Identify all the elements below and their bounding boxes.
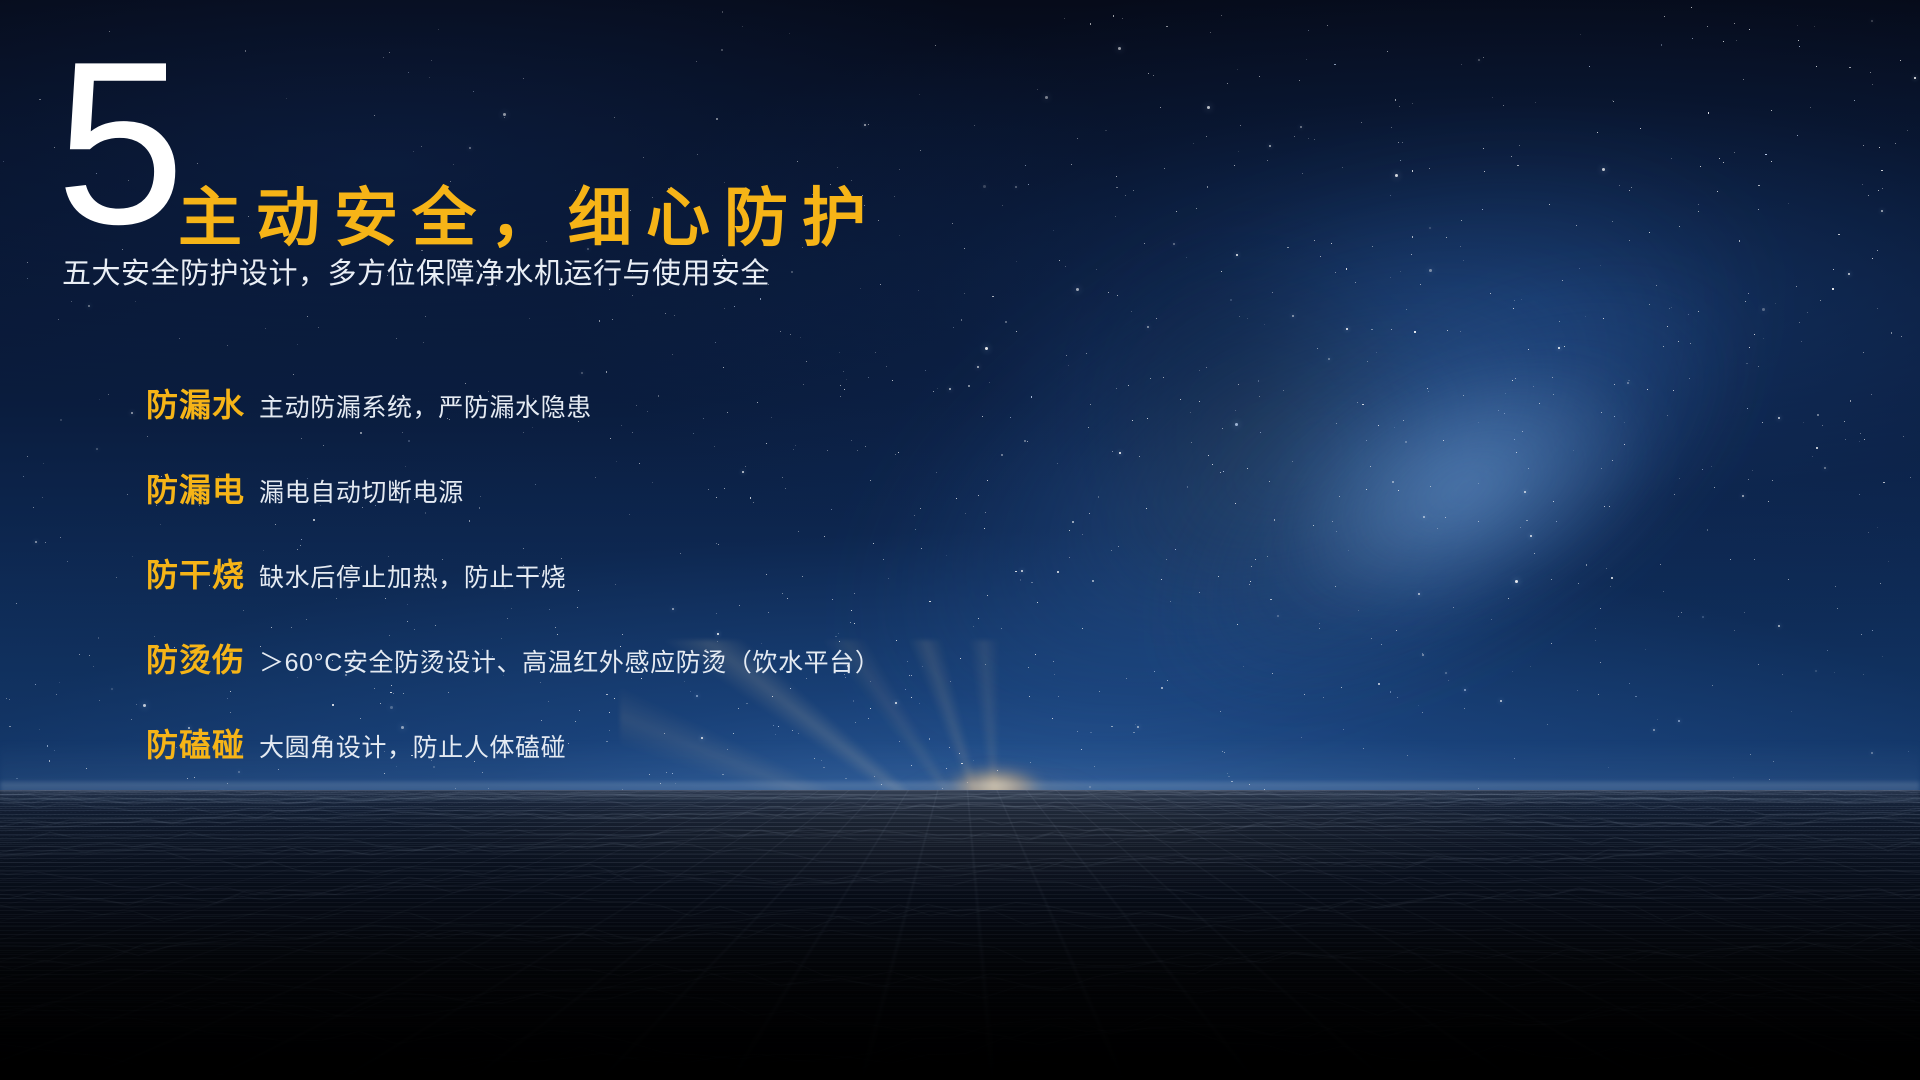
feature-description: 漏电自动切断电源 xyxy=(259,473,464,509)
feature-row: 防干烧缺水后停止加热，防止干烧 xyxy=(146,550,1346,635)
feature-label: 防烫伤 xyxy=(146,635,245,681)
feature-description: 大圆角设计，防止人体磕碰 xyxy=(259,728,566,764)
section-number: 5 xyxy=(56,28,181,260)
feature-row: 防磕碰大圆角设计，防止人体磕碰 xyxy=(146,720,1346,805)
feature-description: 缺水后停止加热，防止干烧 xyxy=(259,558,566,594)
feature-label: 防干烧 xyxy=(146,550,245,596)
feature-row: 防漏水主动防漏系统，严防漏水隐患 xyxy=(146,380,1346,465)
feature-label: 防磕碰 xyxy=(146,720,245,766)
slide-canvas: 5 主动安全，细心防护 五大安全防护设计，多方位保障净水机运行与使用安全 防漏水… xyxy=(0,0,1920,1080)
slide-content: 5 主动安全，细心防护 五大安全防护设计，多方位保障净水机运行与使用安全 防漏水… xyxy=(0,0,1920,1080)
feature-row: 防漏电漏电自动切断电源 xyxy=(146,465,1346,550)
page-subtitle: 五大安全防护设计，多方位保障净水机运行与使用安全 xyxy=(62,256,770,292)
feature-label: 防漏电 xyxy=(146,465,245,511)
page-title: 主动安全，细心防护 xyxy=(178,185,880,252)
feature-row: 防烫伤＞60°C安全防烫设计、高温红外感应防烫（饮水平台） xyxy=(146,635,1346,720)
feature-label: 防漏水 xyxy=(146,380,245,426)
feature-list: 防漏水主动防漏系统，严防漏水隐患防漏电漏电自动切断电源防干烧缺水后停止加热，防止… xyxy=(146,380,1346,805)
feature-description: 主动防漏系统，严防漏水隐患 xyxy=(259,388,592,424)
feature-description: ＞60°C安全防烫设计、高温红外感应防烫（饮水平台） xyxy=(259,643,880,679)
